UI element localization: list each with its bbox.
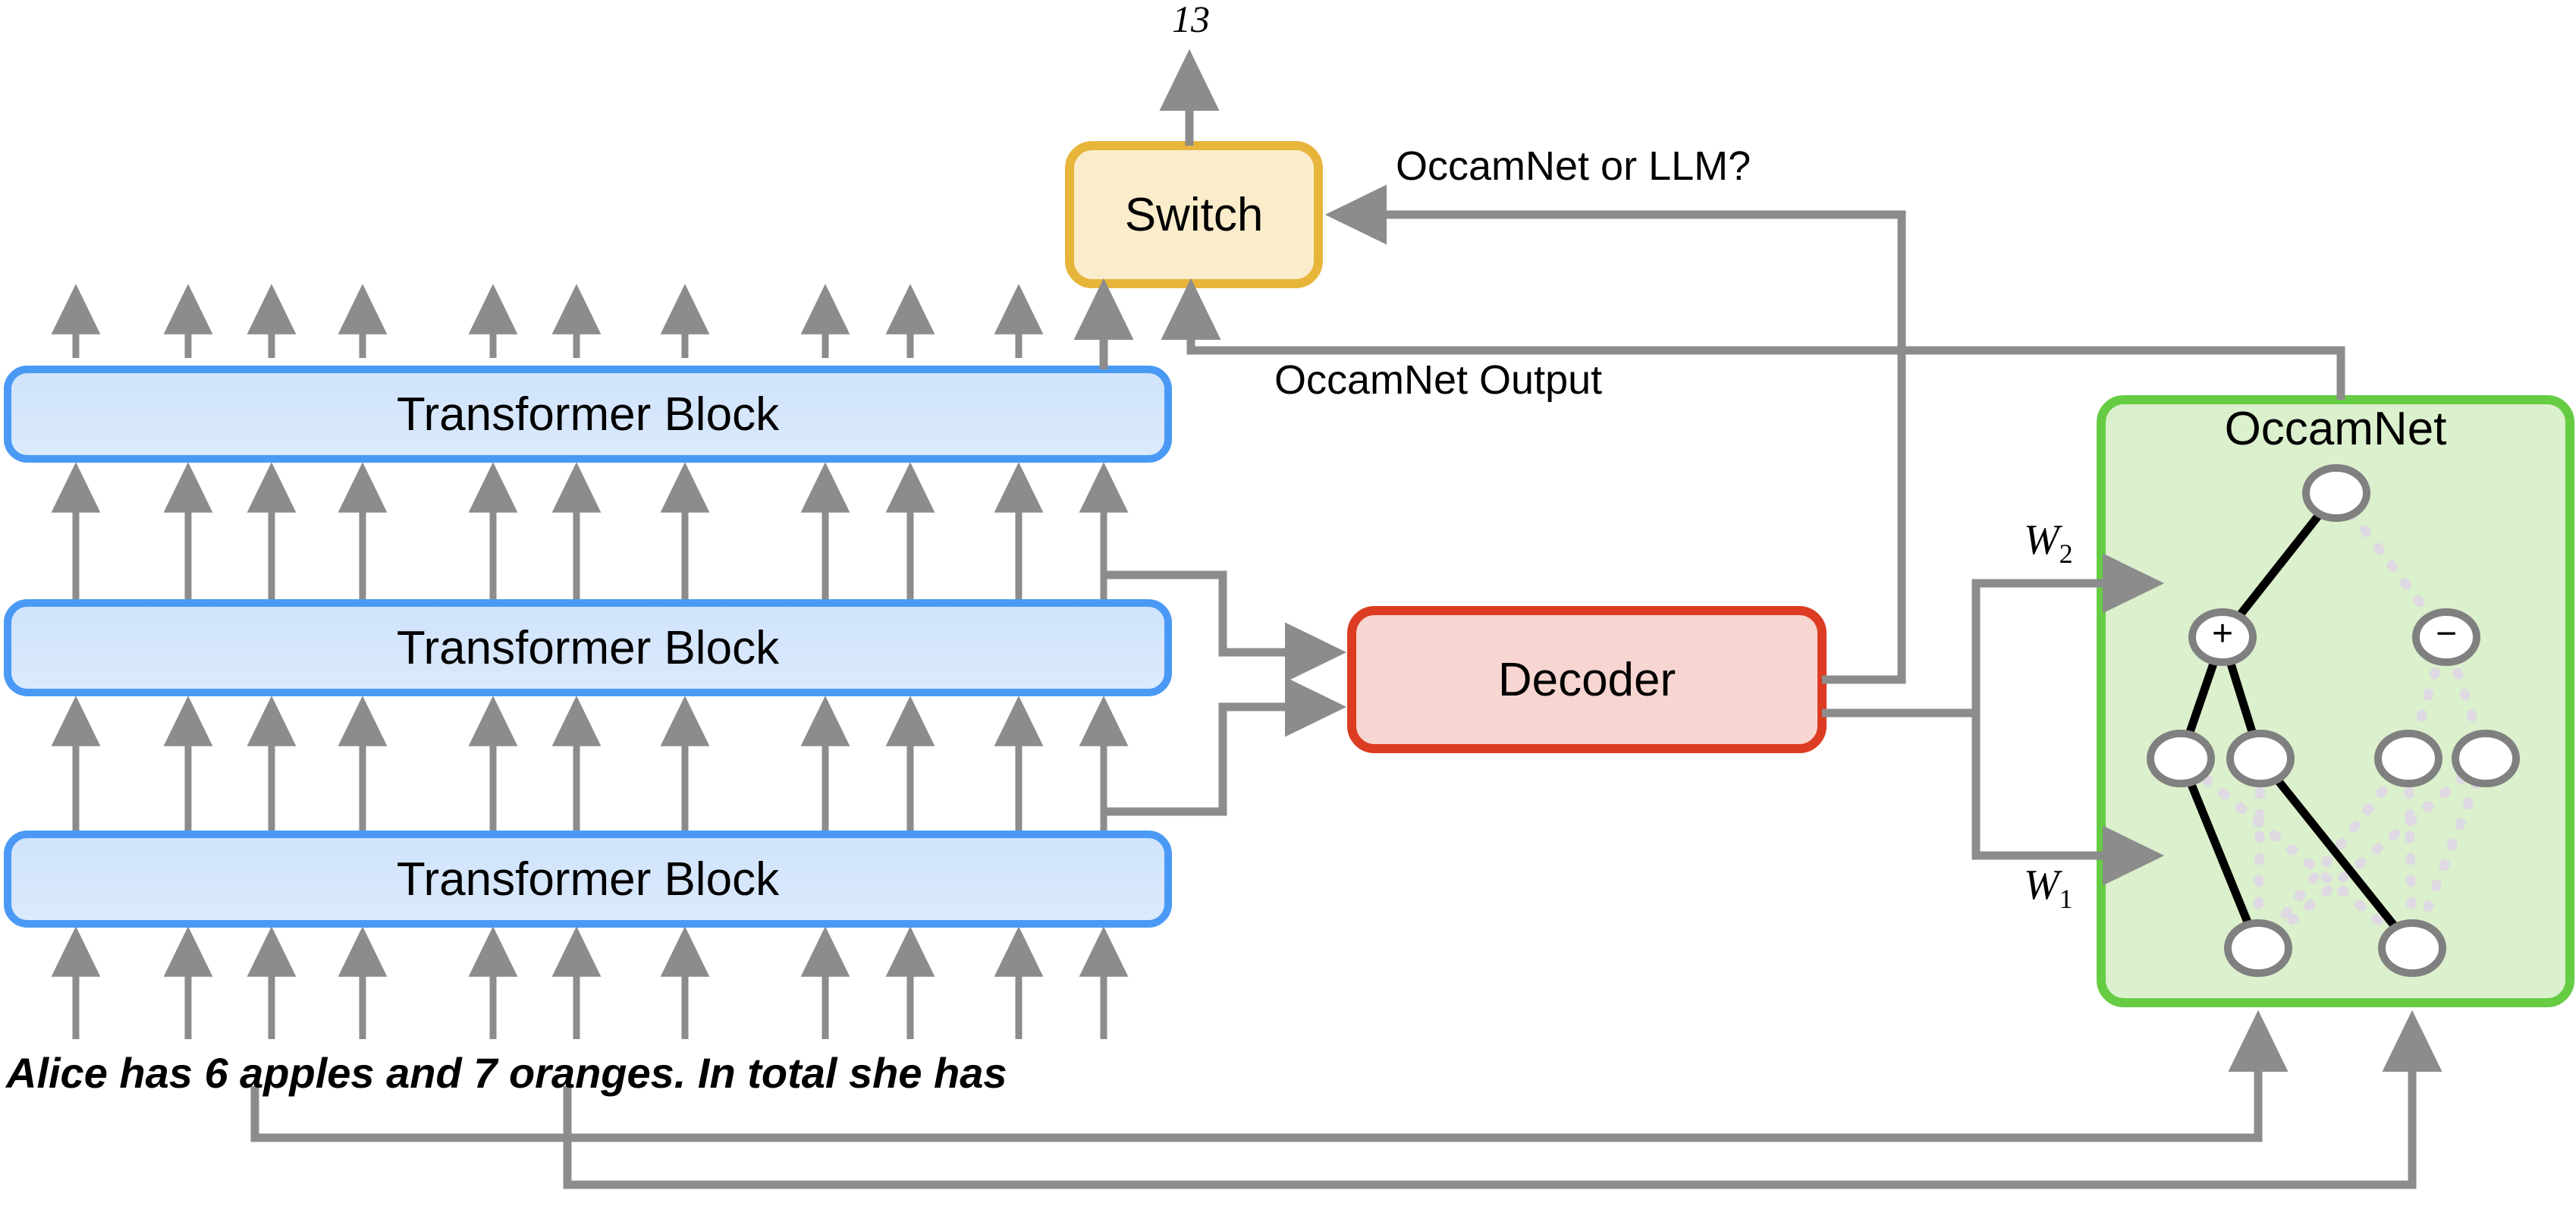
weight-1-symbol: W <box>2024 862 2059 909</box>
diagram-canvas: 13 Transformer Block Transformer Block T… <box>0 0 2576 1206</box>
output-token-label: 13 <box>1172 0 1210 41</box>
weight-2-symbol: W <box>2024 517 2059 564</box>
occamnet-node-h2 <box>2230 733 2291 784</box>
occamnet-node-out <box>2306 468 2367 518</box>
edge-label-occamnet-output: OccamNet Output <box>1274 356 1602 404</box>
transformer-block-3 <box>8 369 1168 459</box>
wire-tb1-to-decoder <box>1104 707 1337 812</box>
occamnet-title: OccamNet <box>2101 402 2570 456</box>
occamnet-node-h3 <box>2378 733 2439 784</box>
transformer-block-1 <box>8 834 1168 924</box>
decoder-box[interactable] <box>1352 611 1822 749</box>
occamnet-node-in2 <box>2382 923 2442 973</box>
occamnet-node-h1 <box>2150 733 2211 784</box>
weight-2-subscript: 2 <box>2059 539 2073 569</box>
wire-operand-7-to-occamnet <box>567 1020 2412 1185</box>
weight-1-subscript: 1 <box>2059 884 2073 914</box>
weight-1-label: W1 <box>2024 861 2073 915</box>
occamnet-node-in1 <box>2228 923 2289 973</box>
transformer-block-2 <box>8 603 1168 693</box>
prompt-input-text: Alice has 6 apples and 7 oranges. In tot… <box>6 1048 1007 1098</box>
edge-label-occamnet-or-llm: OccamNet or LLM? <box>1396 143 1751 190</box>
occamnet-node-plus <box>2192 612 2253 662</box>
occamnet-node-h4 <box>2455 733 2516 784</box>
weight-2-label: W2 <box>2024 516 2073 570</box>
occamnet-node-minus <box>2416 612 2477 662</box>
diagram-svg <box>0 0 2576 1206</box>
switch-box[interactable] <box>1070 146 1318 284</box>
